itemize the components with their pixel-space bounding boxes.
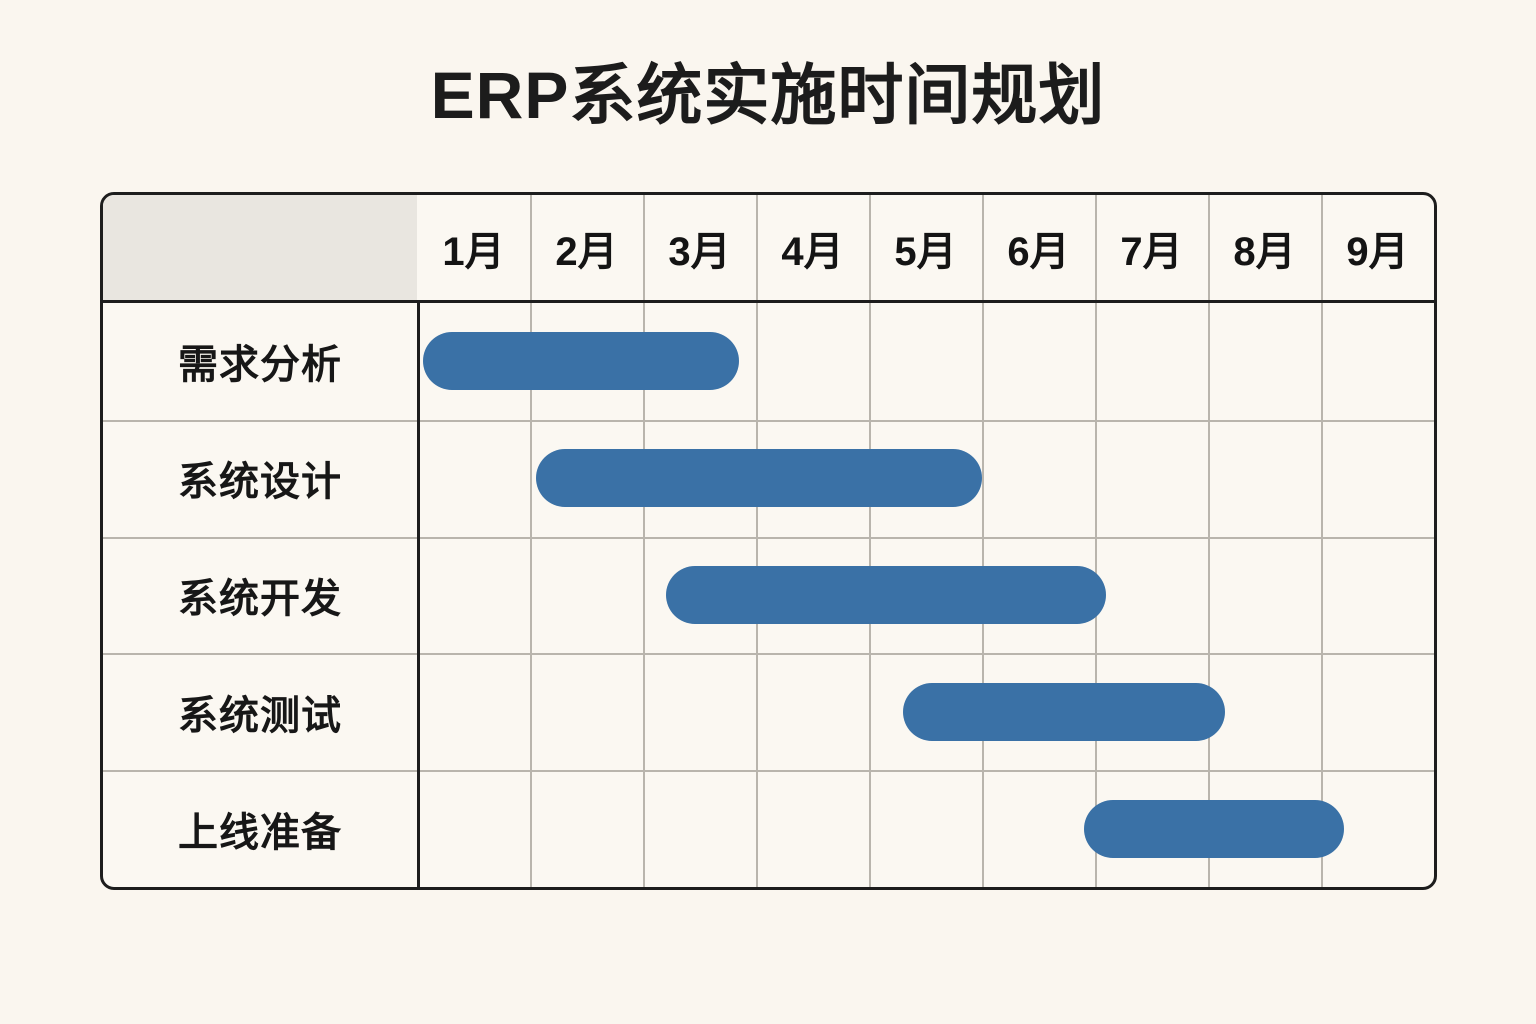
task-label-row-5: 上线准备: [103, 770, 417, 887]
gantt-bar-上线准备[interactable]: [1084, 800, 1344, 858]
grid-line-vertical-header: [1321, 195, 1323, 300]
grid-line-vertical-header: [643, 195, 645, 300]
task-label-row-2: 系统设计: [103, 420, 417, 537]
header-corner-cell: [103, 195, 417, 300]
grid-line-vertical-header: [1208, 195, 1210, 300]
month-header-5: 5月: [869, 195, 982, 300]
gantt-table: 1月2月3月4月5月6月7月8月9月 需求分析系统设计系统开发系统测试上线准备: [100, 192, 1437, 890]
label-column-divider: [417, 303, 420, 887]
grid-line-vertical: [1321, 303, 1323, 887]
task-label-row-1: 需求分析: [103, 303, 417, 420]
month-header-2: 2月: [530, 195, 643, 300]
month-header-1: 1月: [417, 195, 530, 300]
task-label-row-3: 系统开发: [103, 537, 417, 654]
table-body: 需求分析系统设计系统开发系统测试上线准备: [103, 303, 1434, 887]
grid-line-vertical-header: [869, 195, 871, 300]
grid-line-vertical: [530, 303, 532, 887]
grid-line-vertical-header: [530, 195, 532, 300]
gantt-bar-系统测试[interactable]: [903, 683, 1225, 741]
gantt-bar-系统开发[interactable]: [666, 566, 1107, 624]
grid-line-vertical-header: [756, 195, 758, 300]
month-header-3: 3月: [643, 195, 756, 300]
month-header-8: 8月: [1208, 195, 1321, 300]
gantt-page: ERP系统实施时间规划 1月2月3月4月5月6月7月8月9月 需求分析系统设计系…: [0, 0, 1536, 1024]
grid-line-vertical: [643, 303, 645, 887]
grid-line-vertical-header: [982, 195, 984, 300]
gantt-bar-需求分析[interactable]: [423, 332, 739, 390]
table-header-row: 1月2月3月4月5月6月7月8月9月: [103, 195, 1434, 300]
page-title: ERP系统实施时间规划: [0, 58, 1536, 134]
month-header-6: 6月: [982, 195, 1095, 300]
gantt-bar-系统设计[interactable]: [536, 449, 982, 507]
month-header-7: 7月: [1095, 195, 1208, 300]
month-header-9: 9月: [1321, 195, 1434, 300]
grid-line-vertical-header: [1095, 195, 1097, 300]
month-header-4: 4月: [756, 195, 869, 300]
task-label-row-4: 系统测试: [103, 653, 417, 770]
